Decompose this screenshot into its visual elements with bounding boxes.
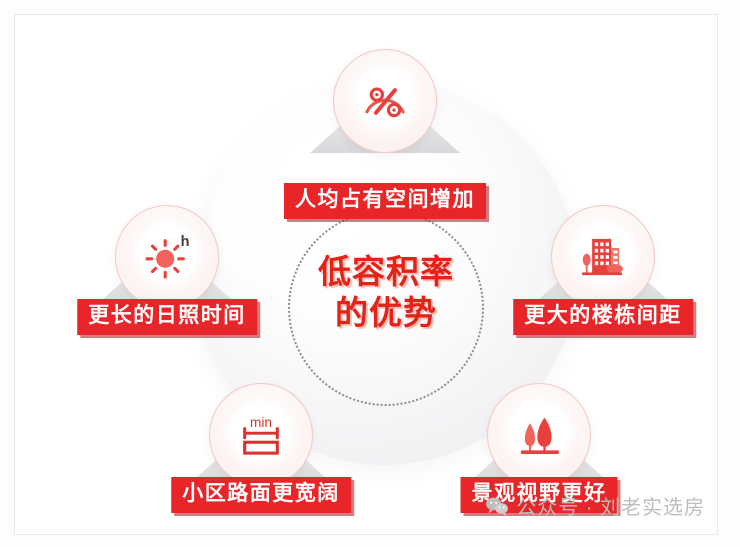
wechat-icon xyxy=(485,496,509,516)
node-label-banner[interactable]: 更大的楼栋间距 xyxy=(513,299,693,335)
percent-gauge-icon xyxy=(356,72,414,130)
node-label-banner[interactable]: 人均占有空间增加 xyxy=(284,183,486,219)
node-bubble: h xyxy=(115,205,219,309)
infographic-root: 低容积率 的优势 人均占有空间增加 xyxy=(0,0,740,547)
node-bubble xyxy=(487,383,591,487)
node-label-banner[interactable]: 小区路面更宽阔 xyxy=(171,477,351,513)
node-label-banner[interactable]: 更长的日照时间 xyxy=(77,299,257,335)
node-bubble xyxy=(551,205,655,309)
trees-icon xyxy=(510,406,568,464)
road-width-min-icon: min xyxy=(232,406,290,464)
center-title: 低容积率 的优势 xyxy=(288,251,484,334)
sun-hours-icon: h xyxy=(138,228,196,286)
road-width-min-icon-text: min xyxy=(250,415,272,430)
watermark: 公众号 · 刘老实选房 xyxy=(485,491,705,520)
watermark-text: 公众号 · 刘老实选房 xyxy=(516,491,705,520)
buildings-icon xyxy=(574,228,632,286)
node-bubble: min xyxy=(209,383,313,487)
infographic-canvas: 低容积率 的优势 人均占有空间增加 xyxy=(14,14,718,535)
node-bubble xyxy=(333,49,437,153)
sun-hours-icon-letter: h xyxy=(181,234,190,250)
